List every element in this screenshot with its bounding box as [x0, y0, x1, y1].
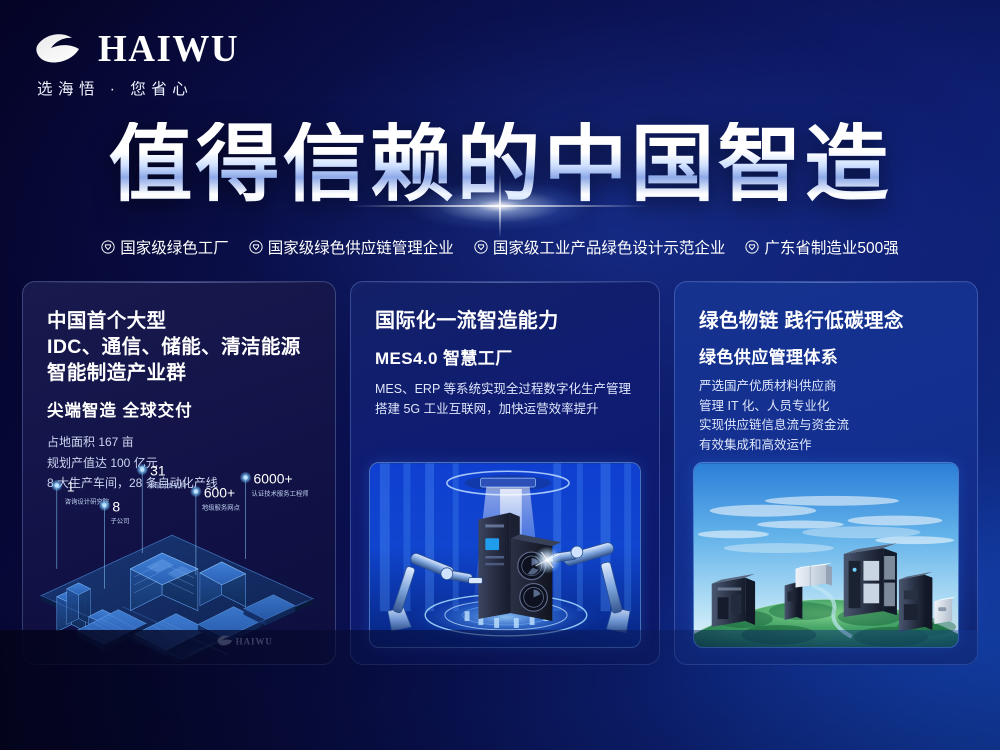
svg-text:8: 8	[112, 498, 120, 514]
card2-subtitle: MES4.0 智慧工厂	[375, 344, 635, 369]
award-shield-icon	[474, 240, 488, 254]
certification-badge: 国家级绿色供应链管理企业	[249, 236, 454, 258]
feature-card-smart-manufacturing[interactable]: 国际化一流智造能力 MES4.0 智慧工厂 MES、ERP 等系统实现全过程数字…	[350, 281, 660, 665]
brand-tagline: 选海悟 · 您省心	[34, 77, 239, 99]
svg-text:31: 31	[150, 463, 166, 479]
award-shield-icon	[249, 240, 263, 254]
svg-text:HAIWU: HAIWU	[236, 636, 273, 646]
card1-title-line2: IDC、通信、储能、清洁能源	[47, 334, 311, 360]
card3-body: 严选国产优质材料供应商 管理 IT 化、人员专业化 实现供应链信息流与资金流 有…	[699, 377, 953, 455]
svg-text:省级分支机构: 省级分支机构	[148, 480, 186, 489]
card3-subtitle: 绿色供应管理体系	[699, 343, 953, 368]
svg-text:1: 1	[67, 478, 75, 494]
card1-subtitle: 尖端智造 全球交付	[47, 397, 311, 421]
certification-badge-label: 国家级工业产品绿色设计示范企业	[493, 236, 726, 258]
card2-title: 国际化一流智造能力	[375, 308, 635, 335]
poster-canvas: HAIWU 选海悟 · 您省心 值得信赖的中国智造 国家级绿色工厂 国家级	[0, 0, 1000, 750]
award-shield-icon	[745, 240, 759, 254]
robotic-assembly-photo	[369, 462, 641, 648]
feature-card-industrial-park[interactable]: 中国首个大型 IDC、通信、储能、清洁能源 智能制造产业群 尖端智造 全球交付 …	[22, 281, 336, 665]
card1-title: 中国首个大型 IDC、通信、储能、清洁能源 智能制造产业群	[47, 308, 311, 386]
feature-card-row: 中国首个大型 IDC、通信、储能、清洁能源 智能制造产业群 尖端智造 全球交付 …	[22, 281, 978, 665]
callout-1: 1 咨询设计研究院	[51, 478, 110, 569]
page-title: 值得信赖的中国智造	[0, 122, 1000, 206]
card3-body-line2: 管理 IT 化、人员专业化	[699, 397, 953, 417]
card3-body-line4: 有效集成和高效运作	[699, 436, 953, 456]
card3-body-line3: 实现供应链信息流与资金流	[699, 416, 953, 436]
svg-text:认证技术服务工程师: 认证技术服务工程师	[252, 488, 310, 497]
certification-badge-label: 国家级绿色工厂	[120, 236, 229, 258]
certification-badge: 广东省制造业500强	[745, 236, 898, 258]
feature-card-green-supply-chain[interactable]: 绿色物链 践行低碳理念 绿色供应管理体系 严选国产优质材料供应商 管理 IT 化…	[674, 281, 978, 665]
card1-title-line3: 智能制造产业群	[47, 360, 311, 386]
brand-name: HAIWU	[98, 30, 239, 68]
callout-6000: 6000+ 认证技术服务工程师	[240, 470, 310, 559]
wave-leaf-mark-icon	[34, 30, 86, 68]
card2-body: MES、ERP 等系统实现全过程数字化生产管理 搭建 5G 工业互联网，加快运营…	[375, 379, 635, 420]
isometric-industrial-park-figure: HAIWU 1 咨询设计研究院 8	[23, 449, 335, 664]
green-earth-products-photo	[693, 462, 959, 648]
certification-badge: 国家级绿色工厂	[101, 236, 229, 258]
award-shield-icon	[101, 240, 115, 254]
card3-body-line1: 严选国产优质材料供应商	[699, 377, 953, 397]
brand-logo: HAIWU 选海悟 · 您省心	[34, 30, 239, 99]
svg-text:子公司: 子公司	[110, 517, 129, 525]
certification-badge-label: 广东省制造业500强	[764, 236, 898, 258]
card2-body-line2: 搭建 5G 工业互联网，加快运营效率提升	[375, 399, 635, 419]
certification-badge: 国家级工业产品绿色设计示范企业	[474, 236, 726, 258]
certification-badge-label: 国家级绿色供应链管理企业	[268, 236, 454, 258]
svg-text:地级服务网点: 地级服务网点	[202, 502, 241, 511]
card2-body-line1: MES、ERP 等系统实现全过程数字化生产管理	[375, 379, 635, 399]
card1-title-line1: 中国首个大型	[47, 308, 311, 334]
certification-badge-row: 国家级绿色工厂 国家级绿色供应链管理企业 国家级工业产品绿色设计示范企业	[0, 236, 1000, 258]
card3-title: 绿色物链 践行低碳理念	[699, 308, 953, 334]
svg-text:600+: 600+	[204, 484, 235, 500]
svg-text:6000+: 6000+	[254, 470, 293, 486]
